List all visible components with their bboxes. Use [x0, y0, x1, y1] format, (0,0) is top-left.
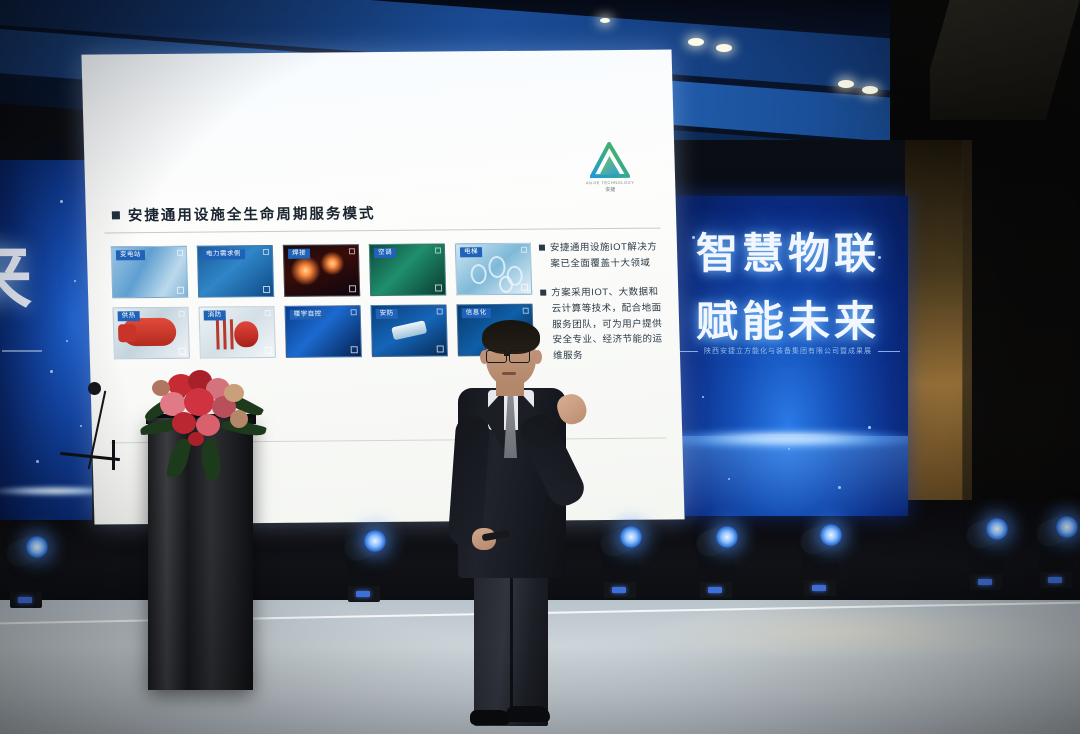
- flower-petal: [184, 388, 214, 416]
- thumbnail-label: 电梯: [460, 247, 482, 257]
- slide-logo: ANJIE TECHNOLOGY 安捷: [579, 142, 640, 194]
- speaker-hair: [482, 320, 540, 354]
- thumbnail-label: 供热: [118, 311, 140, 321]
- stage-light: [696, 520, 736, 598]
- thumbnail-item: 变电站: [111, 246, 188, 299]
- thumbnail-item: 电梯: [455, 243, 532, 296]
- led-screen-right: 智慧物联 赋能未来 陕西安捷立方能化与装备集团有限公司暨成果展: [668, 196, 908, 516]
- floor-light-reflection: [640, 602, 1060, 662]
- led-left-horizon-glow: [0, 486, 92, 496]
- led-headline-line1: 智慧物联: [668, 220, 908, 281]
- thumbnail-item: 焊接: [283, 244, 360, 297]
- led-left-text: 来: [0, 218, 34, 325]
- bullet-square-icon: [540, 290, 546, 296]
- flower-petal: [152, 380, 170, 396]
- stage-light: [600, 520, 640, 598]
- stage-light: [1036, 510, 1076, 588]
- sparkle-icon: [80, 425, 82, 427]
- triangle-logo-icon: [589, 142, 630, 178]
- led-screen-left: 来: [0, 160, 92, 520]
- thumbnail-label: 变电站: [116, 250, 145, 260]
- logo-latin-text: ANJIE TECHNOLOGY: [580, 180, 640, 186]
- thumbnail-item: 消防: [198, 306, 275, 359]
- bullet-square-icon: [112, 211, 120, 219]
- led-subtitle: 陕西安捷立方能化与装备集团有限公司暨成果展: [668, 346, 908, 356]
- led-floor-glow: [668, 436, 908, 516]
- speaker-shoe: [506, 706, 550, 722]
- flower-petal: [224, 384, 244, 402]
- sparkle-icon: [60, 200, 63, 203]
- ceiling-lamp-icon: [688, 38, 704, 46]
- thumbnail-item: 空调: [369, 243, 446, 296]
- glasses-bridge: [504, 354, 510, 356]
- slide-bullet-text: 安捷通用设施IOT解决方案已全面覆盖十大领域: [550, 240, 662, 272]
- slide-title: 安捷通用设施全生命周期服务模式: [112, 202, 376, 225]
- speaker-mouth: [502, 372, 516, 375]
- led-headline-line2: 赋能未来: [668, 288, 908, 349]
- slide-divider: [104, 228, 660, 234]
- sparkle-icon: [50, 370, 53, 373]
- sparkle-icon: [702, 396, 704, 398]
- thumbnail-label: 信息化: [462, 308, 491, 318]
- sparkle-icon: [74, 280, 76, 282]
- speaker-person: [430, 320, 590, 720]
- speaker-shoe: [470, 710, 510, 725]
- leg-seam: [510, 576, 513, 718]
- thumbnail-label: 安防: [376, 309, 398, 319]
- bullet-square-icon: [539, 245, 545, 251]
- microphone-icon: [88, 382, 101, 395]
- slide-bullet: 安捷通用设施IOT解决方案已全面覆盖十大领域: [539, 240, 662, 272]
- led-subtitle-text: 陕西安捷立方能化与装备集团有限公司暨成果展: [704, 348, 872, 355]
- thumbnail-row: 变电站 电力需求侧 焊接 空调: [111, 243, 533, 299]
- ceiling-lamp-icon: [838, 80, 854, 88]
- logo-cn-text: 安捷: [580, 186, 640, 194]
- thumbnail-label: 空调: [374, 248, 396, 258]
- ceiling-fold-group: [930, 0, 1080, 120]
- flower-petal: [172, 412, 196, 434]
- thumbnail-item: 电力需求侧: [197, 245, 274, 298]
- thumbnail-label: 电力需求侧: [202, 249, 245, 259]
- sparkle-icon: [878, 256, 881, 259]
- sparkle-icon: [36, 460, 39, 463]
- flower-petal: [230, 410, 248, 428]
- flower-petal: [188, 432, 204, 446]
- stage-light: [800, 518, 840, 596]
- thumbnail-item: 供热: [112, 307, 189, 360]
- thumbnail-label: 焊接: [288, 249, 310, 259]
- glasses-icon: [486, 350, 507, 363]
- ceiling-lamp-icon: [716, 44, 732, 52]
- thumbnail-item: 楼宇自控: [284, 305, 361, 358]
- slide-title-text: 安捷通用设施全生命周期服务模式: [128, 206, 376, 224]
- floral-arrangement: [140, 366, 265, 476]
- glasses-icon: [509, 350, 530, 363]
- thumbnail-label: 消防: [204, 310, 226, 320]
- ceiling-lamp-icon: [862, 86, 878, 94]
- conference-stage-photo: 来 智慧物联 赋能未来 陕西安捷立方能化与装备集团有限公司暨成果展: [0, 0, 1080, 734]
- stage-light: [966, 512, 1006, 590]
- stage-light: [6, 530, 46, 608]
- thumbnail-label: 楼宇自控: [290, 309, 326, 319]
- led-left-rule: [2, 350, 42, 352]
- microphone-post: [112, 440, 115, 470]
- sparkle-icon: [868, 426, 871, 429]
- stage-light: [344, 524, 384, 602]
- sparkle-icon: [66, 340, 68, 342]
- ceiling-lamp-icon: [600, 18, 610, 23]
- speaker-ear: [533, 350, 542, 364]
- sparkle-icon: [692, 236, 695, 239]
